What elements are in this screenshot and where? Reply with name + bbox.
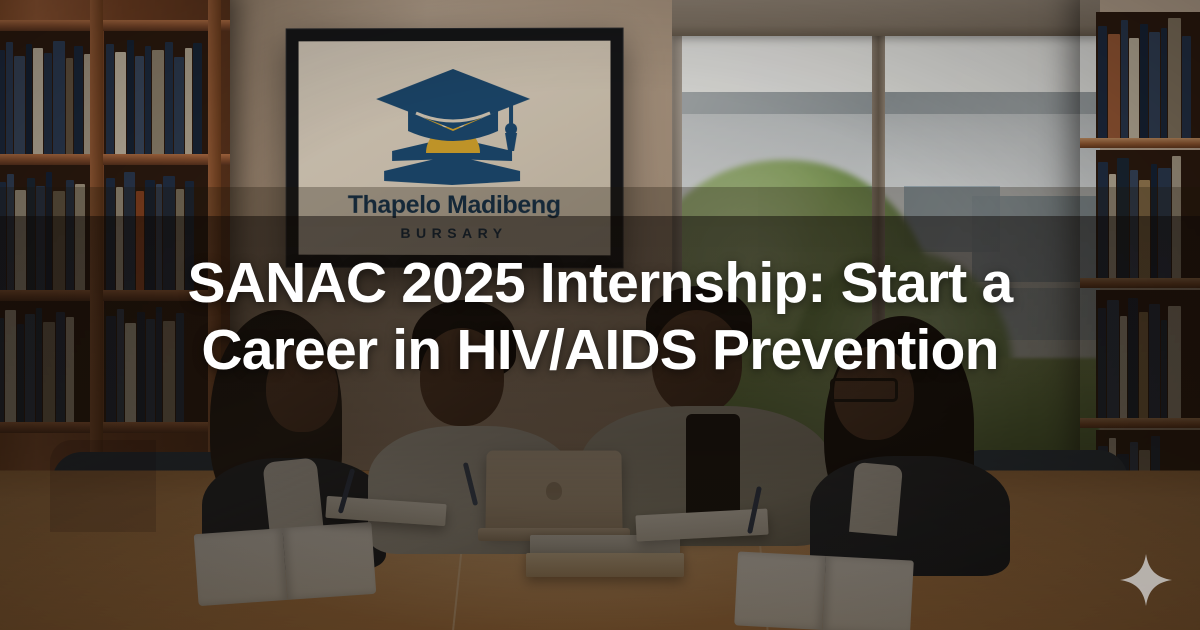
page-title: SANAC 2025 Internship: Start a Career in…	[100, 250, 1100, 384]
overlay-band-top	[0, 0, 1200, 187]
corner-card-shape	[50, 440, 156, 532]
social-share-banner: Thapelo Madibeng BURSARY	[0, 0, 1200, 630]
overlay-band-mid	[0, 187, 1200, 216]
four-point-sparkle-icon	[1118, 552, 1174, 608]
